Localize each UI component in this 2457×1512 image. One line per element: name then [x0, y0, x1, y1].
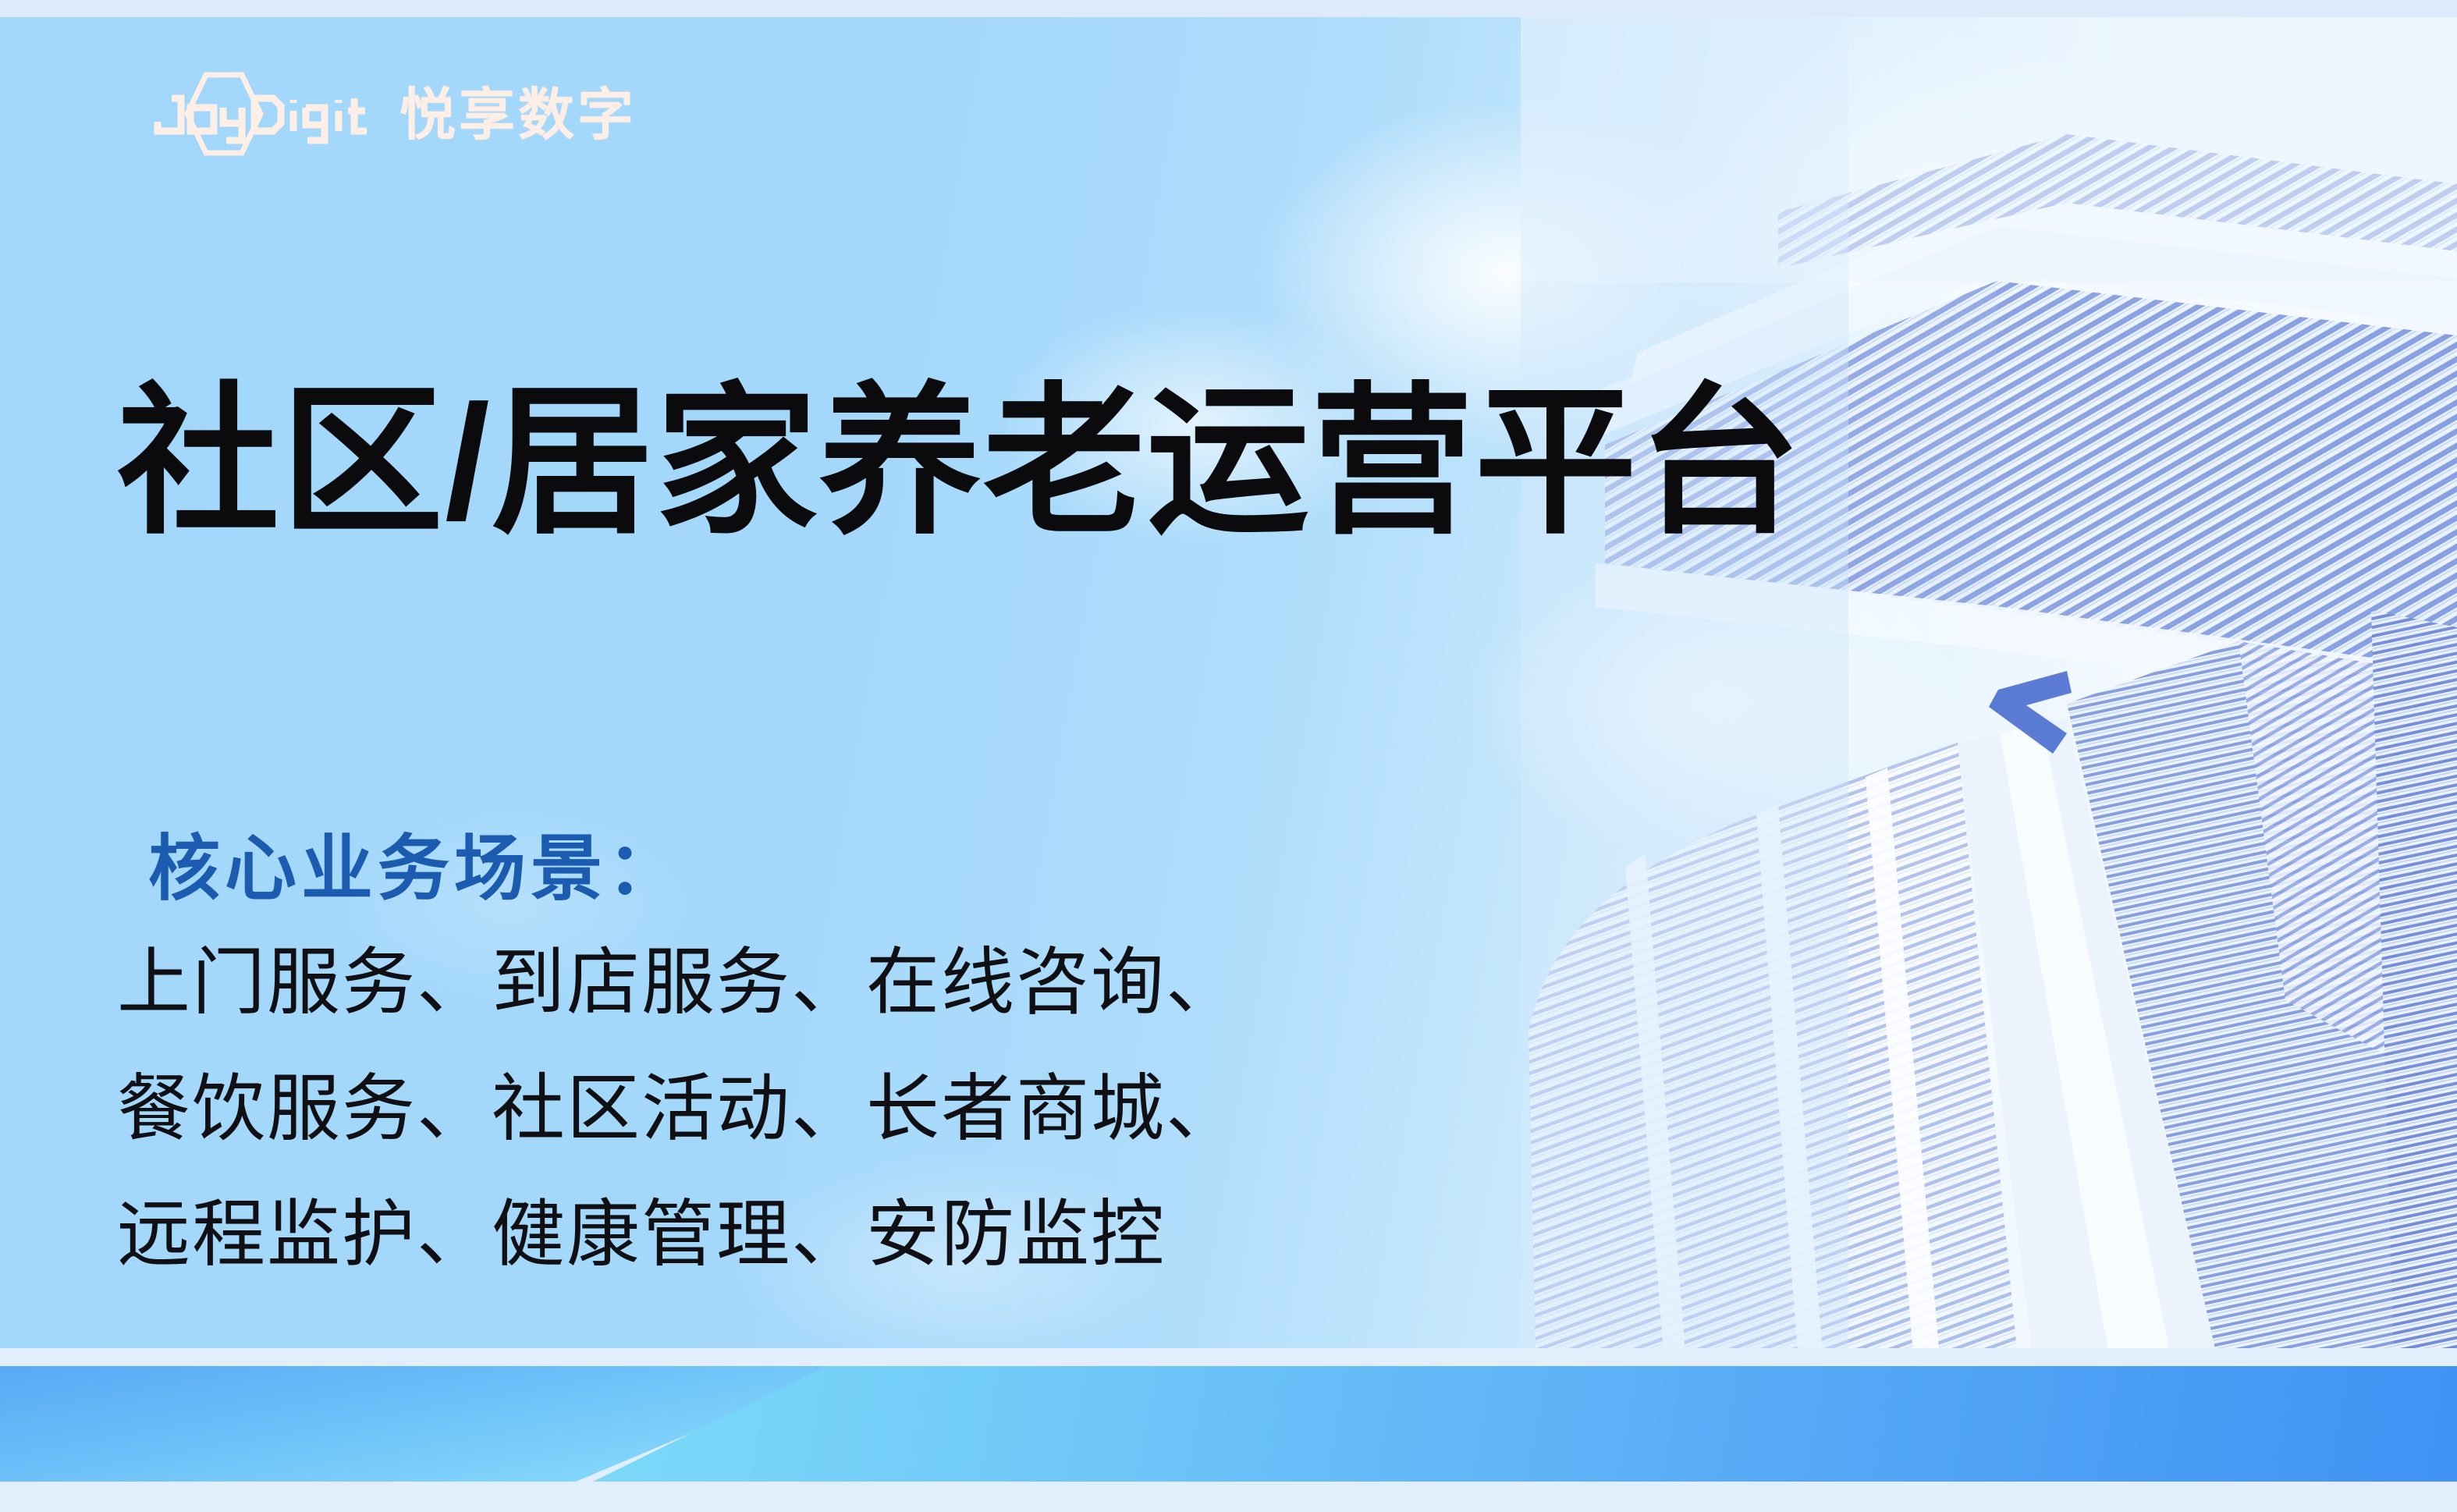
joydigit-wordmark: [145, 72, 379, 159]
section-heading: 核心业务场景：: [148, 830, 683, 909]
brand-logo: 悦享数字: [145, 72, 637, 159]
skyscraper-photo: [1521, 17, 2457, 1382]
top-edge-strip: [0, 0, 2457, 17]
scenario-list: 上门服务、到店服务、在线咨询、 餐饮服务、社区活动、长者商城、 远程监护、健康管…: [117, 919, 1241, 1297]
bottom-decorative-band: [0, 1348, 2457, 1512]
page-title: 社区/居家养老运营平台: [117, 372, 1802, 554]
brand-name-cn: 悦享数字: [399, 87, 637, 144]
band-parallelogram-right: [593, 1366, 2457, 1482]
slide-root: 悦享数字 社区/居家养老运营平台 核心业务场景： 上门服务、到店服务、在线咨询、…: [0, 0, 2457, 1512]
scenario-line: 餐饮服务、社区活动、长者商城、: [117, 1045, 1241, 1172]
scenario-line: 远程监护、健康管理、安防监控: [117, 1171, 1241, 1297]
scenario-line: 上门服务、到店服务、在线咨询、: [117, 919, 1241, 1045]
